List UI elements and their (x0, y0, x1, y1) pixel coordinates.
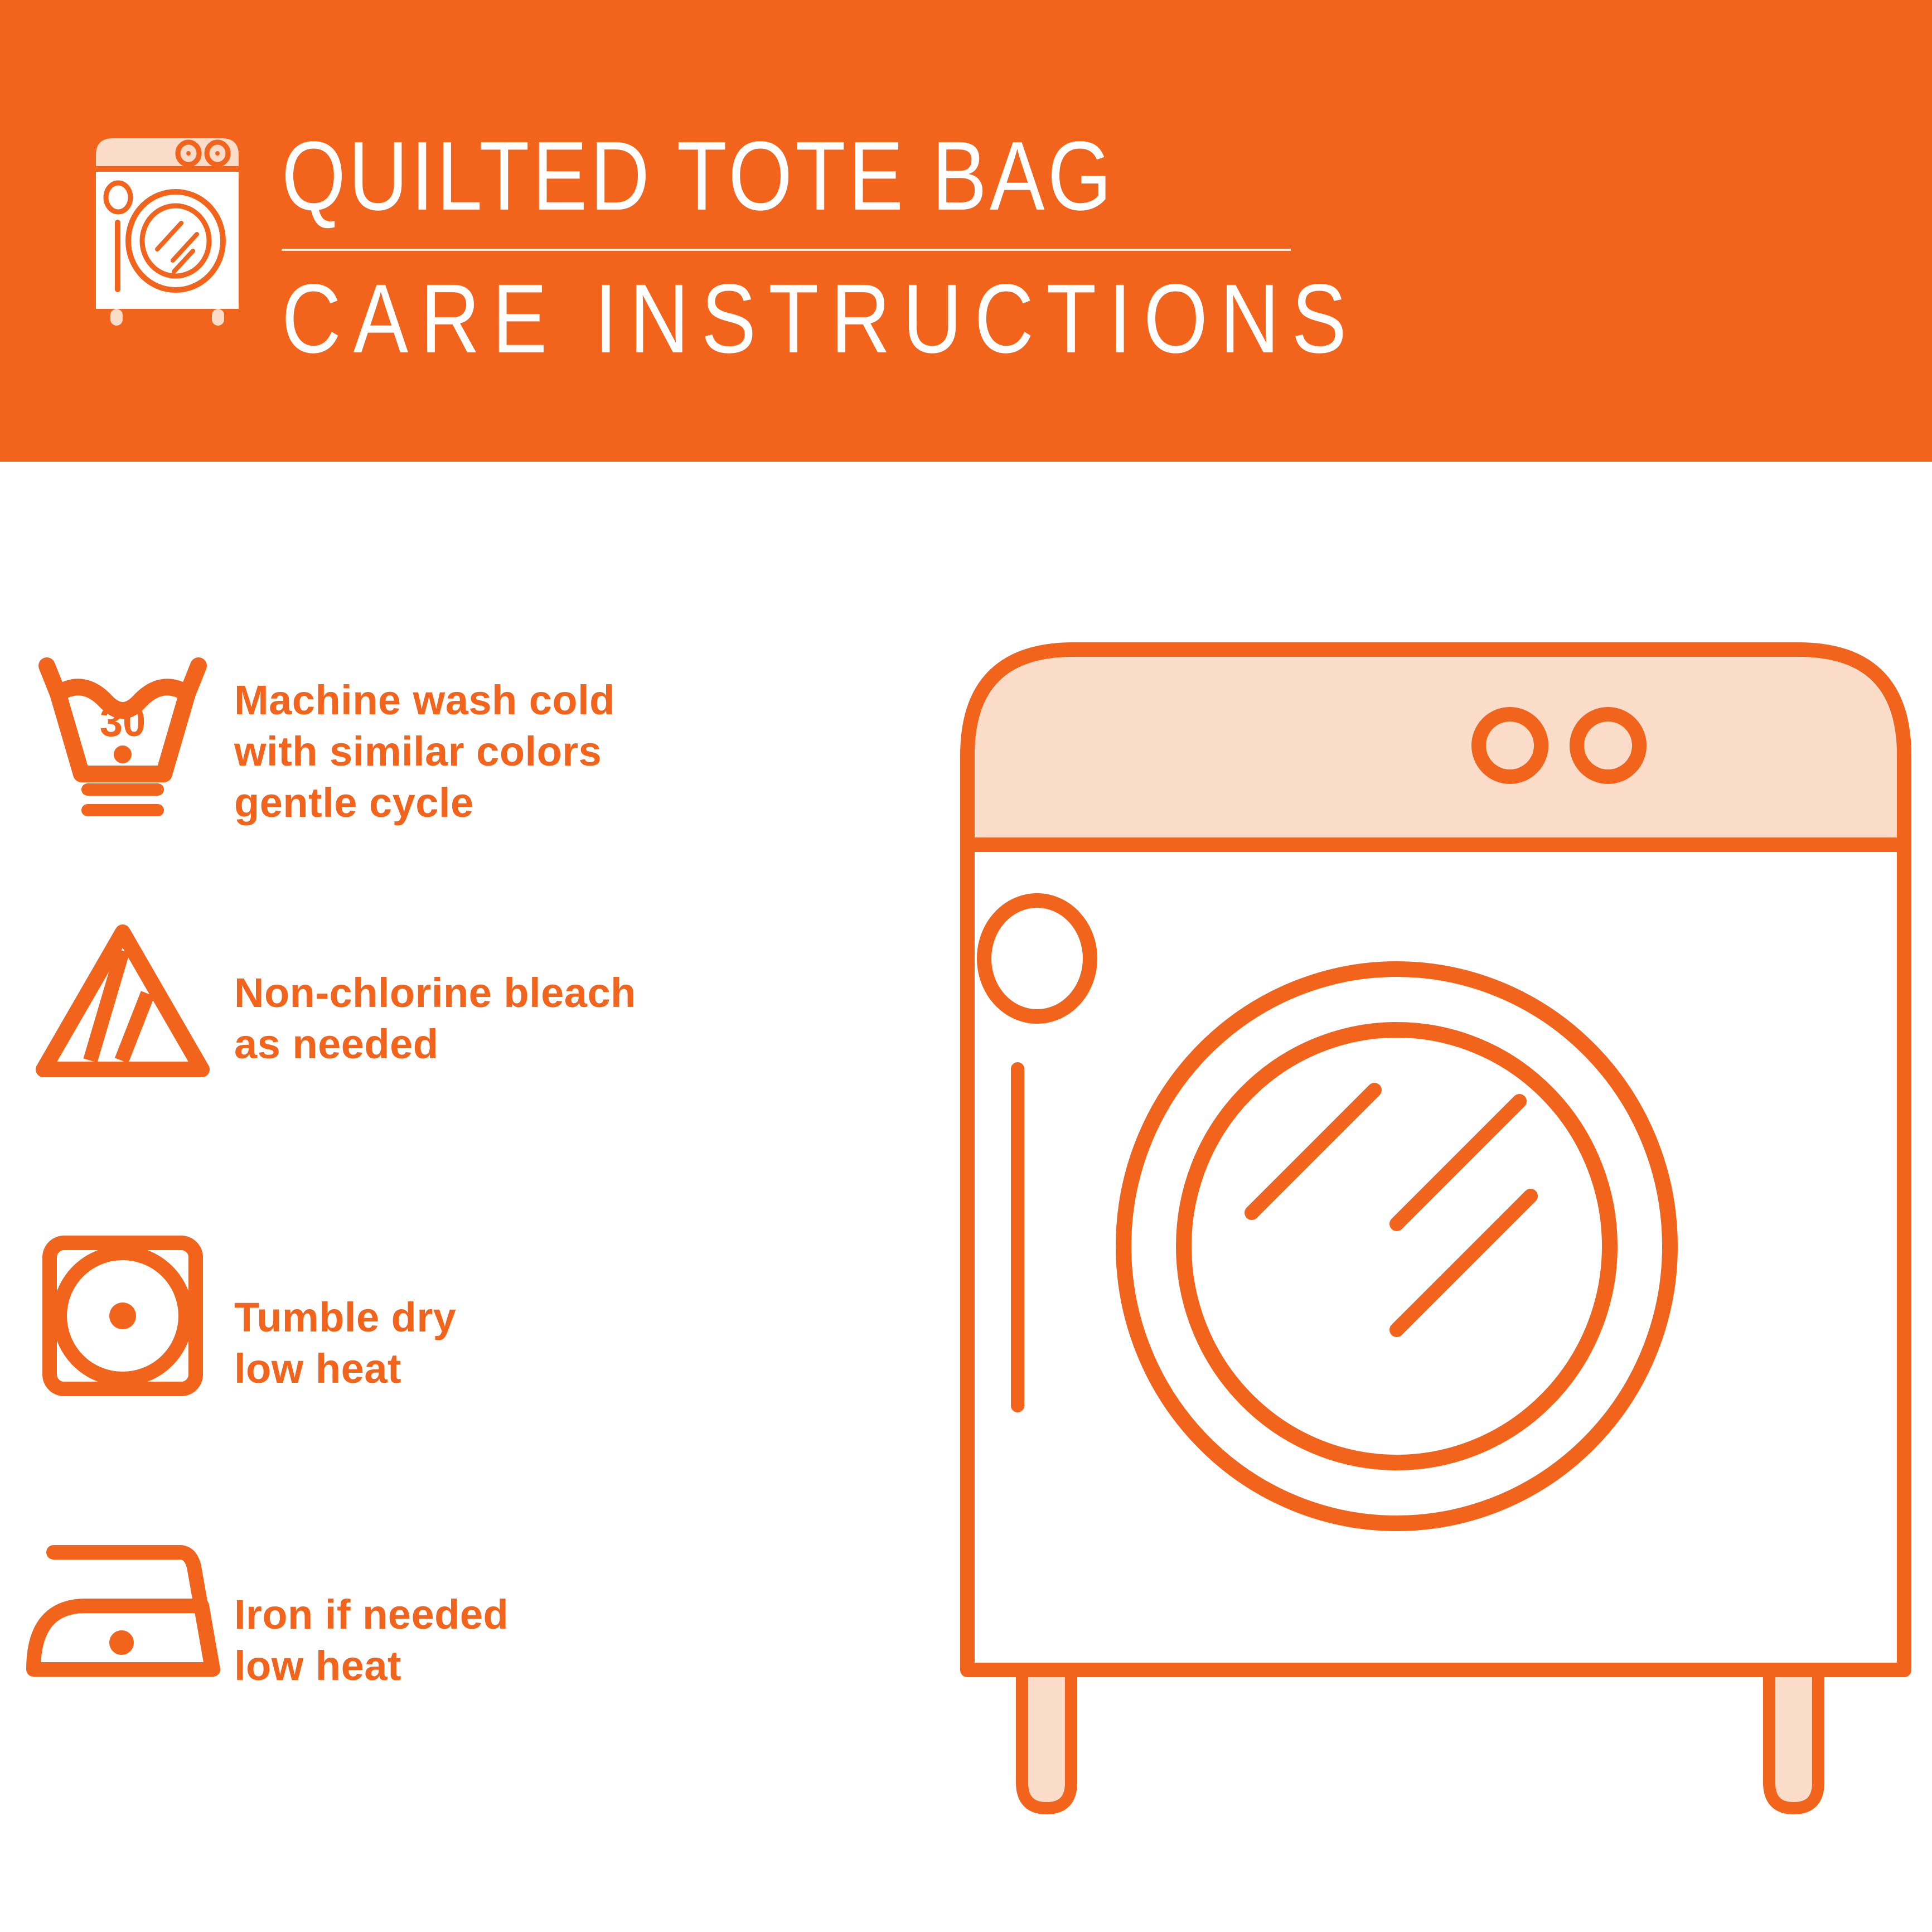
title-divider (282, 249, 1291, 251)
non-chlorine-bleach-triangle-symbol (0, 909, 234, 1132)
page-header: QUILTED TOTE BAG CARE INSTRUCTIONS (0, 0, 1932, 462)
care-line: as needed (234, 1019, 636, 1070)
care-line: with similar colors (234, 726, 615, 777)
knob-right (1577, 714, 1639, 777)
care-text-machine-wash: Machine wash cold with similar colors ge… (234, 647, 615, 828)
care-text-tumble-dry: Tumble dry low heat (234, 1229, 456, 1394)
front-load-washing-machine-illustration (951, 622, 1921, 1848)
wash-temperature-label: 30 (100, 699, 146, 745)
care-row-machine-wash: 30 Machine wash cold with similar colors… (0, 647, 948, 909)
care-line: Non-chlorine bleach (234, 967, 636, 1019)
care-line: low heat (234, 1343, 456, 1394)
header-text-block: QUILTED TOTE BAG CARE INSTRUCTIONS (282, 127, 1291, 368)
iron-low-heat-symbol (0, 1522, 234, 1745)
care-text-iron: Iron if needed low heat (234, 1522, 509, 1692)
care-line: Tumble dry (234, 1292, 456, 1343)
handle-bar (1011, 1062, 1024, 1412)
washing-machine-icon (84, 129, 251, 330)
care-line: Machine wash cold (234, 675, 615, 726)
care-row-tumble-dry: Tumble dry low heat (0, 1229, 948, 1522)
knob-left (1479, 714, 1541, 777)
page-subtitle: CARE INSTRUCTIONS (282, 270, 1129, 368)
care-line: low heat (234, 1640, 509, 1692)
care-row-iron: Iron if needed low heat (0, 1522, 948, 1809)
care-instruction-list: 30 Machine wash cold with similar colors… (0, 647, 948, 1809)
leg-right (1769, 1659, 1818, 1808)
page-title: QUILTED TOTE BAG (282, 127, 1129, 225)
leg-left (1022, 1659, 1071, 1808)
wash-tub-30-gentle-symbol: 30 (0, 647, 234, 870)
care-text-bleach: Non-chlorine bleach as needed (234, 909, 636, 1070)
care-line: Iron if needed (234, 1589, 509, 1640)
care-line: gentle cycle (234, 777, 615, 829)
tumble-dry-low-symbol (0, 1229, 234, 1452)
care-row-bleach: Non-chlorine bleach as needed (0, 909, 948, 1229)
control-panel (975, 657, 1897, 845)
